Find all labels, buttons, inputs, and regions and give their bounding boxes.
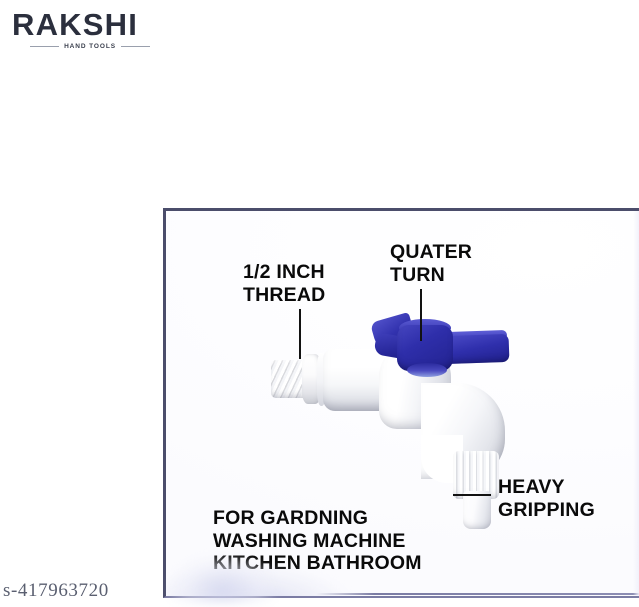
brand-rule-right — [121, 46, 150, 47]
callout-uses-line-1: FOR GARDNING — [213, 507, 422, 530]
callout-heavy-gripping-line-2: GRIPPING — [498, 499, 595, 522]
handle-lever-right — [445, 334, 510, 364]
callout-thread-line-1: 1/2 INCH — [243, 261, 325, 284]
spout-tip — [463, 491, 491, 529]
callout-thread-line-2: THREAD — [243, 284, 325, 307]
brand-rule-left — [30, 46, 59, 47]
blue-handle — [373, 313, 511, 375]
callout-heavy-gripping: HEAVY GRIPPING — [498, 476, 595, 522]
callout-quarter-turn: QUATER TURN — [390, 241, 472, 287]
callout-thread: 1/2 INCH THREAD — [243, 261, 325, 307]
product-image-frame: 1/2 INCH THREAD QUATER TURN FOR GARDNING… — [163, 208, 639, 598]
frame-bottom-border — [316, 593, 639, 595]
frame-right-fade — [633, 211, 639, 596]
callout-quarter-turn-line-1: QUATER — [390, 241, 472, 264]
bottom-blur-overlay — [168, 556, 288, 604]
watermark-text: s-417963720 — [3, 580, 109, 602]
brand-logo: RAKSHI HAND TOOLS — [12, 8, 192, 60]
leader-line-heavy-gripping — [453, 494, 491, 496]
handle-neck — [407, 363, 447, 377]
leader-line-quarter-turn — [420, 289, 422, 341]
callout-uses-line-2: WASHING MACHINE — [213, 530, 422, 553]
callout-heavy-gripping-line-1: HEAVY — [498, 476, 595, 499]
leader-line-thread — [299, 309, 301, 359]
callout-quarter-turn-line-2: TURN — [390, 264, 472, 287]
brand-subtitle: HAND TOOLS — [64, 43, 116, 50]
brand-subtitle-wrap: HAND TOOLS — [12, 43, 150, 50]
brand-name: RAKSHI — [12, 8, 192, 42]
